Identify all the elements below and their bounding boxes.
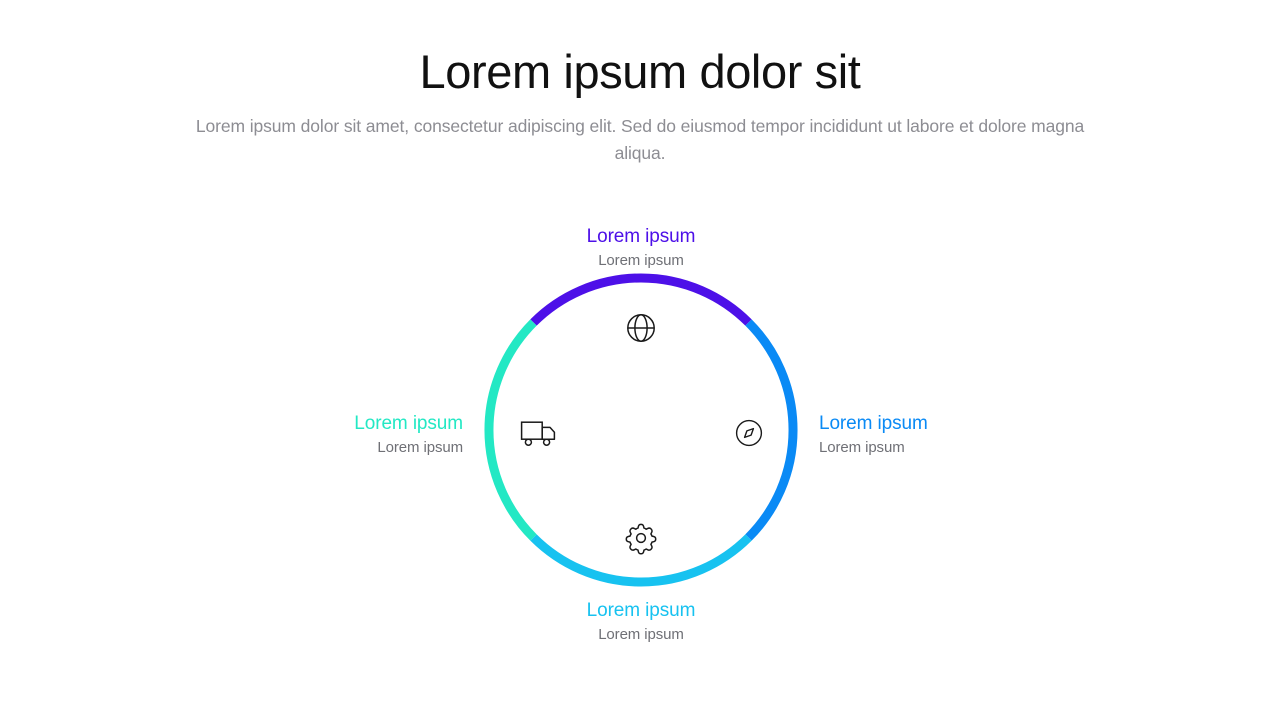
segment-label-bottom-title: Lorem ipsum bbox=[441, 599, 841, 622]
segment-label-left[interactable]: Lorem ipsum Lorem ipsum bbox=[183, 412, 463, 458]
segment-label-top-subtitle: Lorem ipsum bbox=[441, 251, 841, 271]
globe-icon[interactable] bbox=[614, 301, 668, 355]
segment-label-right[interactable]: Lorem ipsum Lorem ipsum bbox=[819, 412, 1099, 458]
segment-label-bottom[interactable]: Lorem ipsum Lorem ipsum bbox=[441, 599, 841, 645]
segment-label-right-subtitle: Lorem ipsum bbox=[819, 438, 1099, 458]
compass-icon[interactable] bbox=[722, 406, 776, 460]
segment-label-bottom-subtitle: Lorem ipsum bbox=[441, 625, 841, 645]
circular-process-diagram: Lorem ipsum Lorem ipsum Lorem ipsum Lore… bbox=[0, 0, 1280, 720]
segment-label-left-title: Lorem ipsum bbox=[183, 412, 463, 435]
truck-icon[interactable] bbox=[512, 406, 566, 460]
gear-icon[interactable] bbox=[614, 511, 668, 565]
segment-label-right-title: Lorem ipsum bbox=[819, 412, 1099, 435]
segment-label-left-subtitle: Lorem ipsum bbox=[183, 438, 463, 458]
segment-label-top-title: Lorem ipsum bbox=[441, 225, 841, 248]
segment-label-top[interactable]: Lorem ipsum Lorem ipsum bbox=[441, 225, 841, 271]
slide-canvas: Lorem ipsum dolor sit Lorem ipsum dolor … bbox=[0, 0, 1280, 720]
